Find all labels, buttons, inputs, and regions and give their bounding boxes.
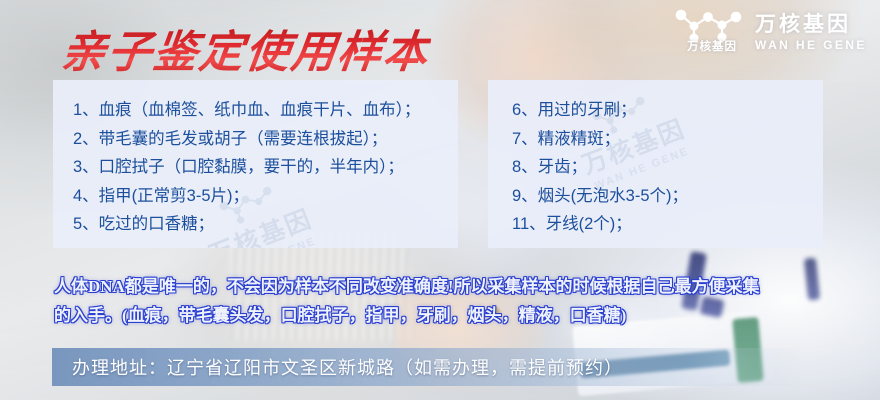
sample-list-panel-left: 万核基因 WAN HE GENE 1、血痕（血棉签、纸巾血、血痕干片、血布）； … xyxy=(53,80,458,248)
description-paragraph: 人体DNA都是唯一的，不会因为样本不同改变准确度!所以采集样本的时候根据自己最方… xyxy=(54,272,844,330)
list-item: 2、带毛囊的毛发或胡子（需要连根拔起）； xyxy=(73,125,458,154)
sample-list-left: 1、血痕（血棉签、纸巾血、血痕干片、血布）； 2、带毛囊的毛发或胡子（需要连根拔… xyxy=(53,80,458,239)
poster-root: 万核基因 万核基因 WAN HE GENE 亲子鉴定使用样本 xyxy=(0,0,880,400)
list-item: 3、口腔拭子（口腔黏膜，要干的，半年内）； xyxy=(73,153,458,182)
logo-name-cn: 万核基因 xyxy=(755,14,867,36)
list-item: 9、烟头(无泡水3-5个)； xyxy=(512,182,823,211)
molecule-dna-icon: 万核基因 xyxy=(672,6,746,52)
logo-name-en: WAN HE GENE xyxy=(755,38,867,52)
brand-logo[interactable]: 万核基因 万核基因 WAN HE GENE xyxy=(672,6,867,52)
address-bar: 办理地址：辽宁省辽阳市文圣区新城路（如需办理，需提前预约） xyxy=(52,348,800,386)
logo-name-cn-small: 万核基因 xyxy=(675,38,749,54)
list-item: 11、牙线(2个)； xyxy=(512,210,823,239)
list-item: 4、指甲(正常剪3-5片)； xyxy=(73,182,458,211)
description-line-2: 的入手。(血痕，带毛囊头发，口腔拭子，指甲，牙刷，烟头，精液，口香糖) xyxy=(54,301,844,330)
list-item: 6、用过的牙刷； xyxy=(512,96,823,125)
sample-list-panel-right: 万核基因 WAN HE GENE 6、用过的牙刷； 7、精液精斑； 8、牙齿； … xyxy=(488,80,823,248)
logo-wordmark: 万核基因 WAN HE GENE xyxy=(755,6,867,52)
list-item: 5、吃过的口香糖； xyxy=(73,210,458,239)
list-item: 8、牙齿； xyxy=(512,153,823,182)
sample-list-right: 6、用过的牙刷； 7、精液精斑； 8、牙齿； 9、烟头(无泡水3-5个)； 11… xyxy=(488,80,823,239)
address-text: 办理地址：辽宁省辽阳市文圣区新城路（如需办理，需提前预约） xyxy=(52,354,623,380)
description-line-1: 人体DNA都是唯一的，不会因为样本不同改变准确度!所以采集样本的时候根据自己最方… xyxy=(54,272,844,301)
list-item: 7、精液精斑； xyxy=(512,125,823,154)
page-title: 亲子鉴定使用样本 xyxy=(58,16,434,80)
list-item: 1、血痕（血棉签、纸巾血、血痕干片、血布）； xyxy=(73,96,458,125)
